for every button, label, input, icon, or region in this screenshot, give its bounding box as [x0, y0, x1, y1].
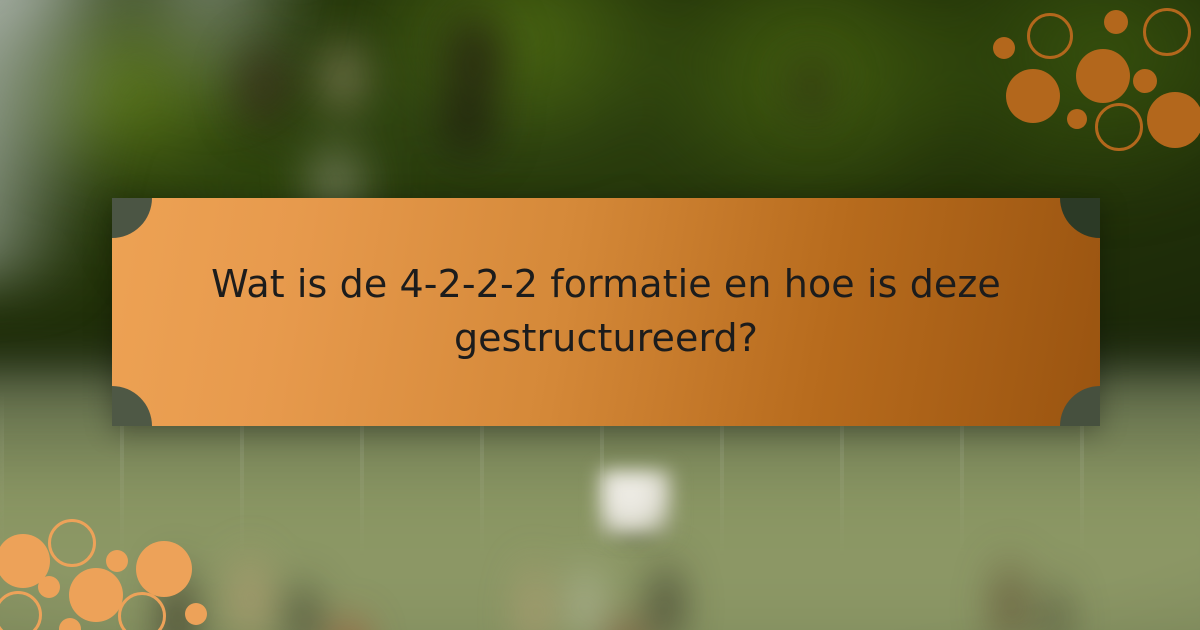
headline-card: Wat is de 4-2-2-2 formatie en hoe is dez… — [112, 198, 1100, 426]
card-notch-top-left — [112, 198, 152, 238]
card-notch-bottom-right — [1060, 386, 1100, 426]
card-notch-top-right — [1060, 198, 1100, 238]
card-notch-bottom-left — [112, 386, 152, 426]
share-card-canvas: Wat is de 4-2-2-2 formatie en hoe is dez… — [0, 0, 1200, 630]
page-title: Wat is de 4-2-2-2 formatie en hoe is dez… — [116, 258, 1096, 366]
